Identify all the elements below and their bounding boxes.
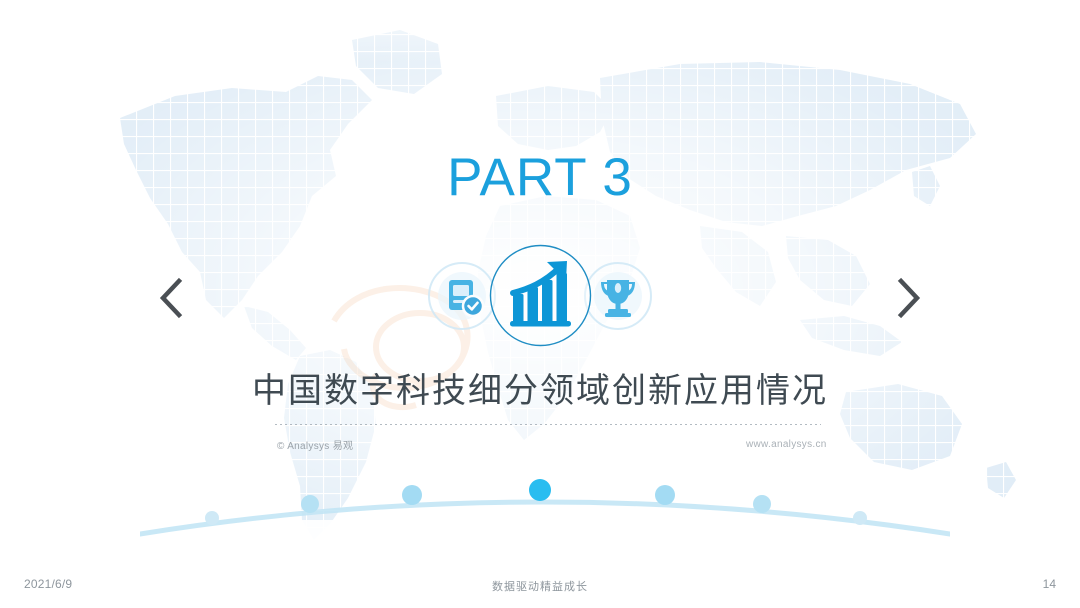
progress-dot[interactable]: [853, 511, 867, 525]
page-title: 中国数字科技细分领域创新应用情况: [0, 371, 1080, 412]
progress-dot-active[interactable]: [529, 479, 551, 501]
next-slide-arrow[interactable]: [886, 272, 932, 324]
slide-canvas: PART 3: [0, 0, 1080, 608]
progress-dot[interactable]: [655, 485, 675, 505]
progress-dot[interactable]: [301, 495, 319, 513]
progress-dot[interactable]: [402, 485, 422, 505]
part-label: PART 3: [0, 151, 1080, 204]
copyright-text: © Analysys 易观: [277, 437, 353, 452]
website-url: www.analysys.cn: [746, 439, 827, 450]
progress-dot[interactable]: [753, 495, 771, 513]
footer-page-number: 14: [1043, 577, 1056, 591]
title-divider: [275, 424, 821, 425]
bar-chart-growth-icon: [488, 243, 593, 348]
progress-arc-indicator: [140, 462, 950, 542]
prev-slide-arrow[interactable]: [148, 272, 194, 324]
section-icon-cluster: [418, 238, 662, 356]
footer-slogan: 数据驱动精益成长: [0, 578, 1080, 594]
chevron-right-icon: [895, 277, 923, 319]
chevron-left-icon: [157, 277, 185, 319]
progress-dot[interactable]: [205, 511, 219, 525]
